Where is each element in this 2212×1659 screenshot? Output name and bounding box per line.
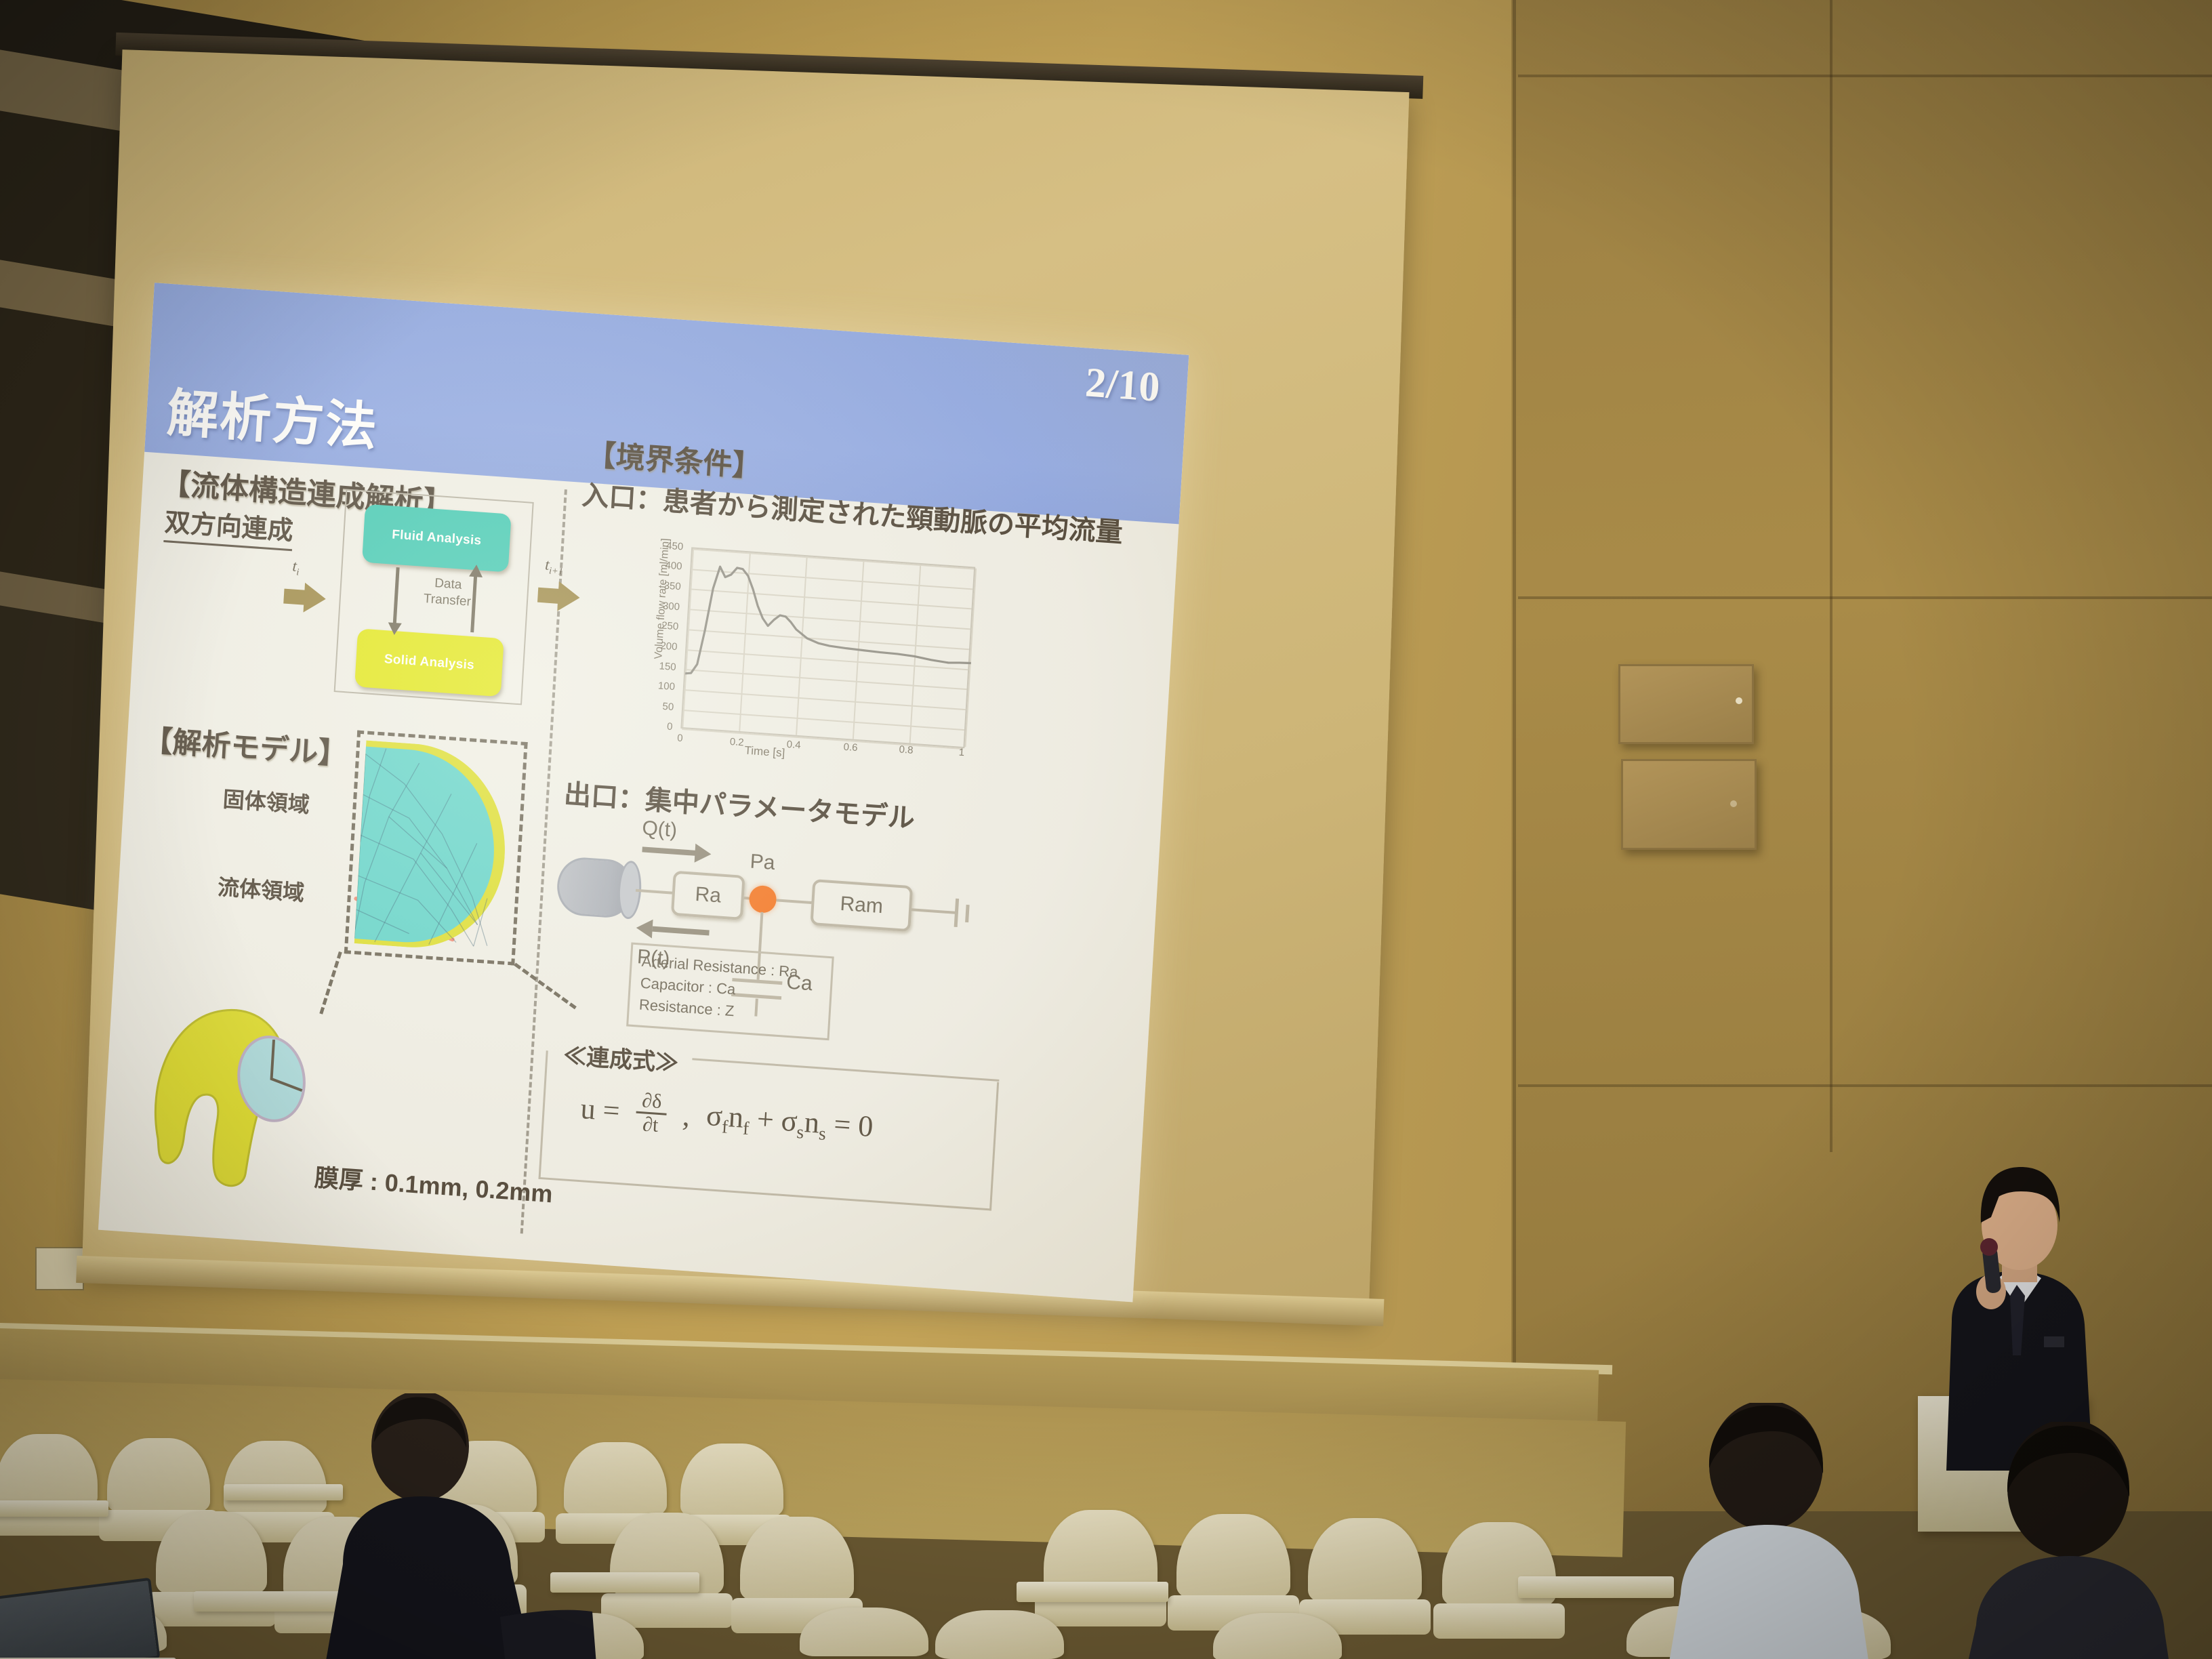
flow-rate-label: Q(t) [641, 817, 678, 842]
solid-analysis-box: Solid Analysis [354, 628, 504, 697]
chair [610, 1513, 724, 1628]
chart-x-axis-label: Time [s] [744, 744, 785, 760]
pa-node-marker [748, 885, 777, 914]
time-step-out-arrow-icon [537, 580, 580, 613]
chart-ytick: 350 [651, 579, 681, 592]
chart-xtick: 0 [665, 731, 695, 745]
chart-ytick: 200 [647, 639, 678, 653]
pressure-arrow [652, 926, 709, 936]
wall-seam [1518, 596, 2212, 599]
screenshot-root: 2/10 解析方法 【流体構造連成解析】 双方向連成 Fluid Analysi… [0, 0, 2212, 1659]
chart-ytick: 50 [644, 699, 674, 713]
chart-xtick: 0.6 [836, 741, 866, 754]
equation-fraction: ∂δ ∂t [635, 1090, 668, 1136]
chart-ytick: 250 [649, 619, 679, 632]
chair [1213, 1613, 1342, 1659]
audience-area [0, 1410, 2212, 1659]
projected-slide: 2/10 解析方法 【流体構造連成解析】 双方向連成 Fluid Analysi… [98, 283, 1189, 1302]
wall-seam [1518, 75, 2212, 77]
slide-body: 【流体構造連成解析】 双方向連成 Fluid Analysis Solid An… [98, 452, 1179, 1303]
arrow-head-up-icon [469, 565, 483, 577]
fraction-denominator: ∂t [636, 1113, 664, 1136]
ram-resistance-box: Ram [810, 879, 913, 932]
chart-ytick: 100 [645, 679, 676, 693]
wall-speaker [1618, 664, 1754, 744]
chair [1044, 1510, 1158, 1626]
flow-arrow [642, 846, 699, 856]
wall-seam [1830, 0, 1832, 1152]
chart-ytick: 300 [650, 599, 680, 613]
slide-page-number: 2/10 [1084, 359, 1161, 412]
attendee-seated [319, 1393, 603, 1659]
flow-waveform [682, 548, 977, 750]
flow-arrow-head-icon [695, 844, 712, 864]
desk [0, 1500, 108, 1517]
membrane-thickness-label: 膜厚 : 0.1mm, 0.2mm [314, 1158, 554, 1210]
cross-section-mesh [354, 741, 511, 954]
fluid-analysis-box: Fluid Analysis [362, 504, 512, 573]
analysis-model-heading: 【解析モデル】 [142, 717, 348, 773]
equation-lhs: u = [579, 1090, 621, 1128]
attendee-seated [1654, 1403, 1925, 1659]
chair [935, 1610, 1064, 1659]
wall-seam [1513, 0, 1516, 1511]
solid-region-label: 固体領域 [222, 782, 310, 819]
wall-seam [1518, 1084, 2212, 1087]
inlet-flow-chart: Volume flow rate [ml/min] [622, 533, 994, 781]
chair [800, 1607, 928, 1659]
attendee-seated [1945, 1422, 2212, 1659]
laptop[interactable] [0, 1578, 160, 1659]
time-step-in-arrow-icon [283, 581, 327, 614]
chart-ytick: 150 [646, 659, 676, 673]
chart-xtick: 1 [946, 745, 977, 759]
ground-symbol-icon [954, 899, 959, 927]
chart-ytick: 0 [642, 719, 673, 733]
fluid-region-label: 流体領域 [217, 870, 305, 907]
chart-xtick: 0.8 [891, 743, 922, 757]
time-step-out-label: ti+1 [544, 556, 564, 577]
arterial-resistance-box: Ra [671, 871, 745, 920]
pressure-arrow-head-icon [636, 918, 653, 939]
fraction-numerator: ∂δ [636, 1090, 668, 1115]
time-step-in-label: ti [291, 557, 300, 578]
slide-title: 解析方法 [165, 371, 381, 460]
equation-comma: , [682, 1098, 691, 1133]
projection-screen: 2/10 解析方法 【流体構造連成解析】 双方向連成 Fluid Analysi… [81, 19, 1444, 1350]
chart-ytick: 450 [653, 539, 684, 552]
equation-rhs: σfnf + σsns = 0 [705, 1098, 874, 1148]
fsi-subheading: 双方向連成 [163, 501, 294, 551]
circuit-legend: Arterial Resistance : Ra Capacitor : Ca … [626, 943, 834, 1041]
desk [1518, 1576, 1674, 1598]
chart-plot-area [680, 547, 975, 748]
arrow-head-down-icon [388, 622, 402, 635]
chart-ytick: 400 [652, 558, 682, 572]
mesh-lines [354, 741, 511, 954]
pa-node-label: Pa [750, 851, 776, 876]
wall-speaker [1621, 759, 1757, 850]
ground-symbol-icon [965, 905, 970, 922]
chair [0, 1434, 98, 1536]
desk [1017, 1582, 1168, 1602]
